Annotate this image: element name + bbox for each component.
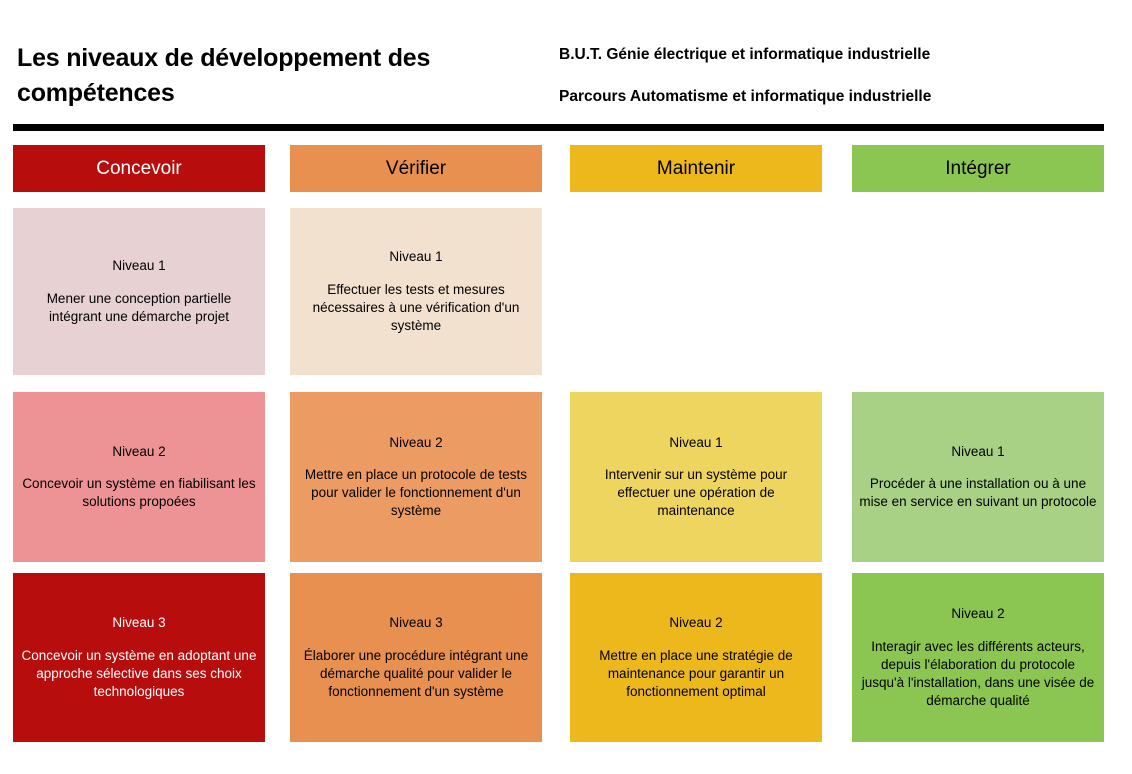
level-label: Niveau 1 bbox=[112, 257, 165, 275]
level-description: Interagir avec les différents acteurs, d… bbox=[859, 638, 1097, 710]
level-label: Niveau 2 bbox=[669, 614, 722, 632]
level-description: Intervenir sur un système pour effectuer… bbox=[577, 466, 815, 520]
level-card-maintenir-1[interactable]: Niveau 1 Intervenir sur un système pour … bbox=[570, 392, 822, 562]
level-description: Mettre en place une stratégie de mainten… bbox=[577, 647, 815, 701]
level-label: Niveau 1 bbox=[389, 248, 442, 266]
level-card-integrer-empty bbox=[852, 208, 1104, 375]
level-label: Niveau 2 bbox=[951, 605, 1004, 623]
level-description: Mettre en place un protocole de tests po… bbox=[297, 466, 535, 520]
level-card-maintenir-empty bbox=[570, 208, 822, 375]
competency-grid: Concevoir Niveau 1 Mener une conception … bbox=[0, 145, 1132, 774]
header-divider bbox=[13, 124, 1104, 131]
programme-line-1: B.U.T. Génie électrique et informatique … bbox=[559, 45, 1119, 66]
column-header-verifier[interactable]: Vérifier bbox=[290, 145, 542, 192]
level-label: Niveau 2 bbox=[112, 443, 165, 461]
level-card-concevoir-1[interactable]: Niveau 1 Mener une conception partielle … bbox=[13, 208, 265, 375]
level-label: Niveau 3 bbox=[112, 614, 165, 632]
page-header: Les niveaux de développement des compéte… bbox=[0, 0, 1132, 124]
level-card-verifier-3[interactable]: Niveau 3 Élaborer une procédure intégran… bbox=[290, 573, 542, 742]
level-description: Concevoir un système en fiabilisant les … bbox=[20, 475, 258, 511]
level-description: Mener une conception partielle intégrant… bbox=[20, 290, 258, 326]
level-description: Effectuer les tests et mesures nécessair… bbox=[297, 281, 535, 335]
page-title: Les niveaux de développement des compéte… bbox=[17, 41, 537, 110]
level-card-verifier-1[interactable]: Niveau 1 Effectuer les tests et mesures … bbox=[290, 208, 542, 375]
level-description: Élaborer une procédure intégrant une dém… bbox=[297, 647, 535, 701]
level-card-concevoir-2[interactable]: Niveau 2 Concevoir un système en fiabili… bbox=[13, 392, 265, 562]
level-card-maintenir-2[interactable]: Niveau 2 Mettre en place une stratégie d… bbox=[570, 573, 822, 742]
level-card-integrer-2[interactable]: Niveau 2 Interagir avec les différents a… bbox=[852, 573, 1104, 742]
level-description: Concevoir un système en adoptant une app… bbox=[20, 647, 258, 701]
level-card-verifier-2[interactable]: Niveau 2 Mettre en place un protocole de… bbox=[290, 392, 542, 562]
level-card-integrer-1[interactable]: Niveau 1 Procéder à une installation ou … bbox=[852, 392, 1104, 562]
column-header-maintenir[interactable]: Maintenir bbox=[570, 145, 822, 192]
level-card-concevoir-3[interactable]: Niveau 3 Concevoir un système en adoptan… bbox=[13, 573, 265, 742]
level-label: Niveau 1 bbox=[951, 443, 1004, 461]
programme-line-2: Parcours Automatisme et informatique ind… bbox=[559, 87, 1119, 108]
level-label: Niveau 1 bbox=[669, 434, 722, 452]
column-header-concevoir[interactable]: Concevoir bbox=[13, 145, 265, 192]
column-header-integrer[interactable]: Intégrer bbox=[852, 145, 1104, 192]
programme-subtitle: B.U.T. Génie électrique et informatique … bbox=[559, 45, 1119, 108]
level-label: Niveau 2 bbox=[389, 434, 442, 452]
level-description: Procéder à une installation ou à une mis… bbox=[859, 475, 1097, 511]
level-label: Niveau 3 bbox=[389, 614, 442, 632]
